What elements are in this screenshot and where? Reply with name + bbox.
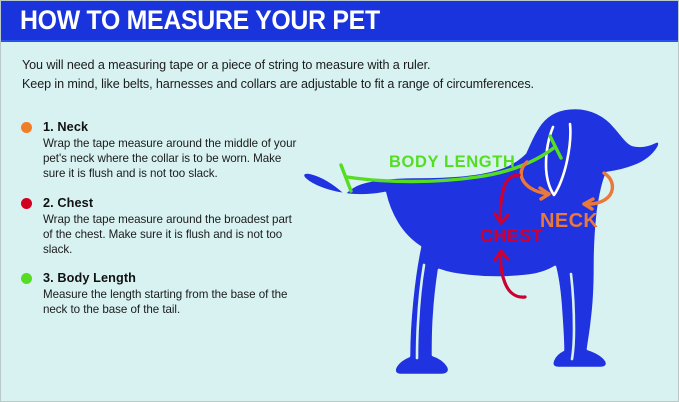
measurement-list: 1. Neck Wrap the tape measure around the…: [18, 119, 303, 331]
intro-line-1: You will need a measuring tape or a piec…: [22, 56, 662, 75]
intro-line-2: Keep in mind, like belts, harnesses and …: [22, 75, 662, 94]
bullet-dot-neck: [21, 122, 32, 133]
list-item-description: Measure the length starting from the bas…: [43, 287, 303, 317]
intro-text: You will need a measuring tape or a piec…: [22, 56, 662, 93]
chest-label: CHEST: [480, 226, 543, 246]
list-item-title: 3. Body Length: [43, 270, 303, 286]
list-item-chest: 2. Chest Wrap the tape measure around th…: [18, 195, 303, 258]
list-item-description: Wrap the tape measure around the broades…: [43, 212, 303, 258]
list-item-title: 1. Neck: [43, 119, 303, 135]
bullet-dot-chest: [21, 198, 32, 209]
body-length-label: BODY LENGTH: [389, 153, 515, 171]
list-item-description: Wrap the tape measure around the middle …: [43, 136, 303, 182]
pet-measurement-infographic: HOW TO MEASURE YOUR PET You will need a …: [0, 0, 679, 402]
list-item-body-length: 3. Body Length Measure the length starti…: [18, 270, 303, 317]
list-item-title: 2. Chest: [43, 195, 303, 211]
dog-diagram: BODY LENGTH NECK CHEST: [297, 105, 679, 402]
list-item-neck: 1. Neck Wrap the tape measure around the…: [18, 119, 303, 182]
neck-label: NECK: [540, 210, 598, 232]
page-title: HOW TO MEASURE YOUR PET: [20, 5, 380, 36]
header-bar: HOW TO MEASURE YOUR PET: [1, 1, 679, 42]
bullet-dot-body-length: [21, 273, 32, 284]
